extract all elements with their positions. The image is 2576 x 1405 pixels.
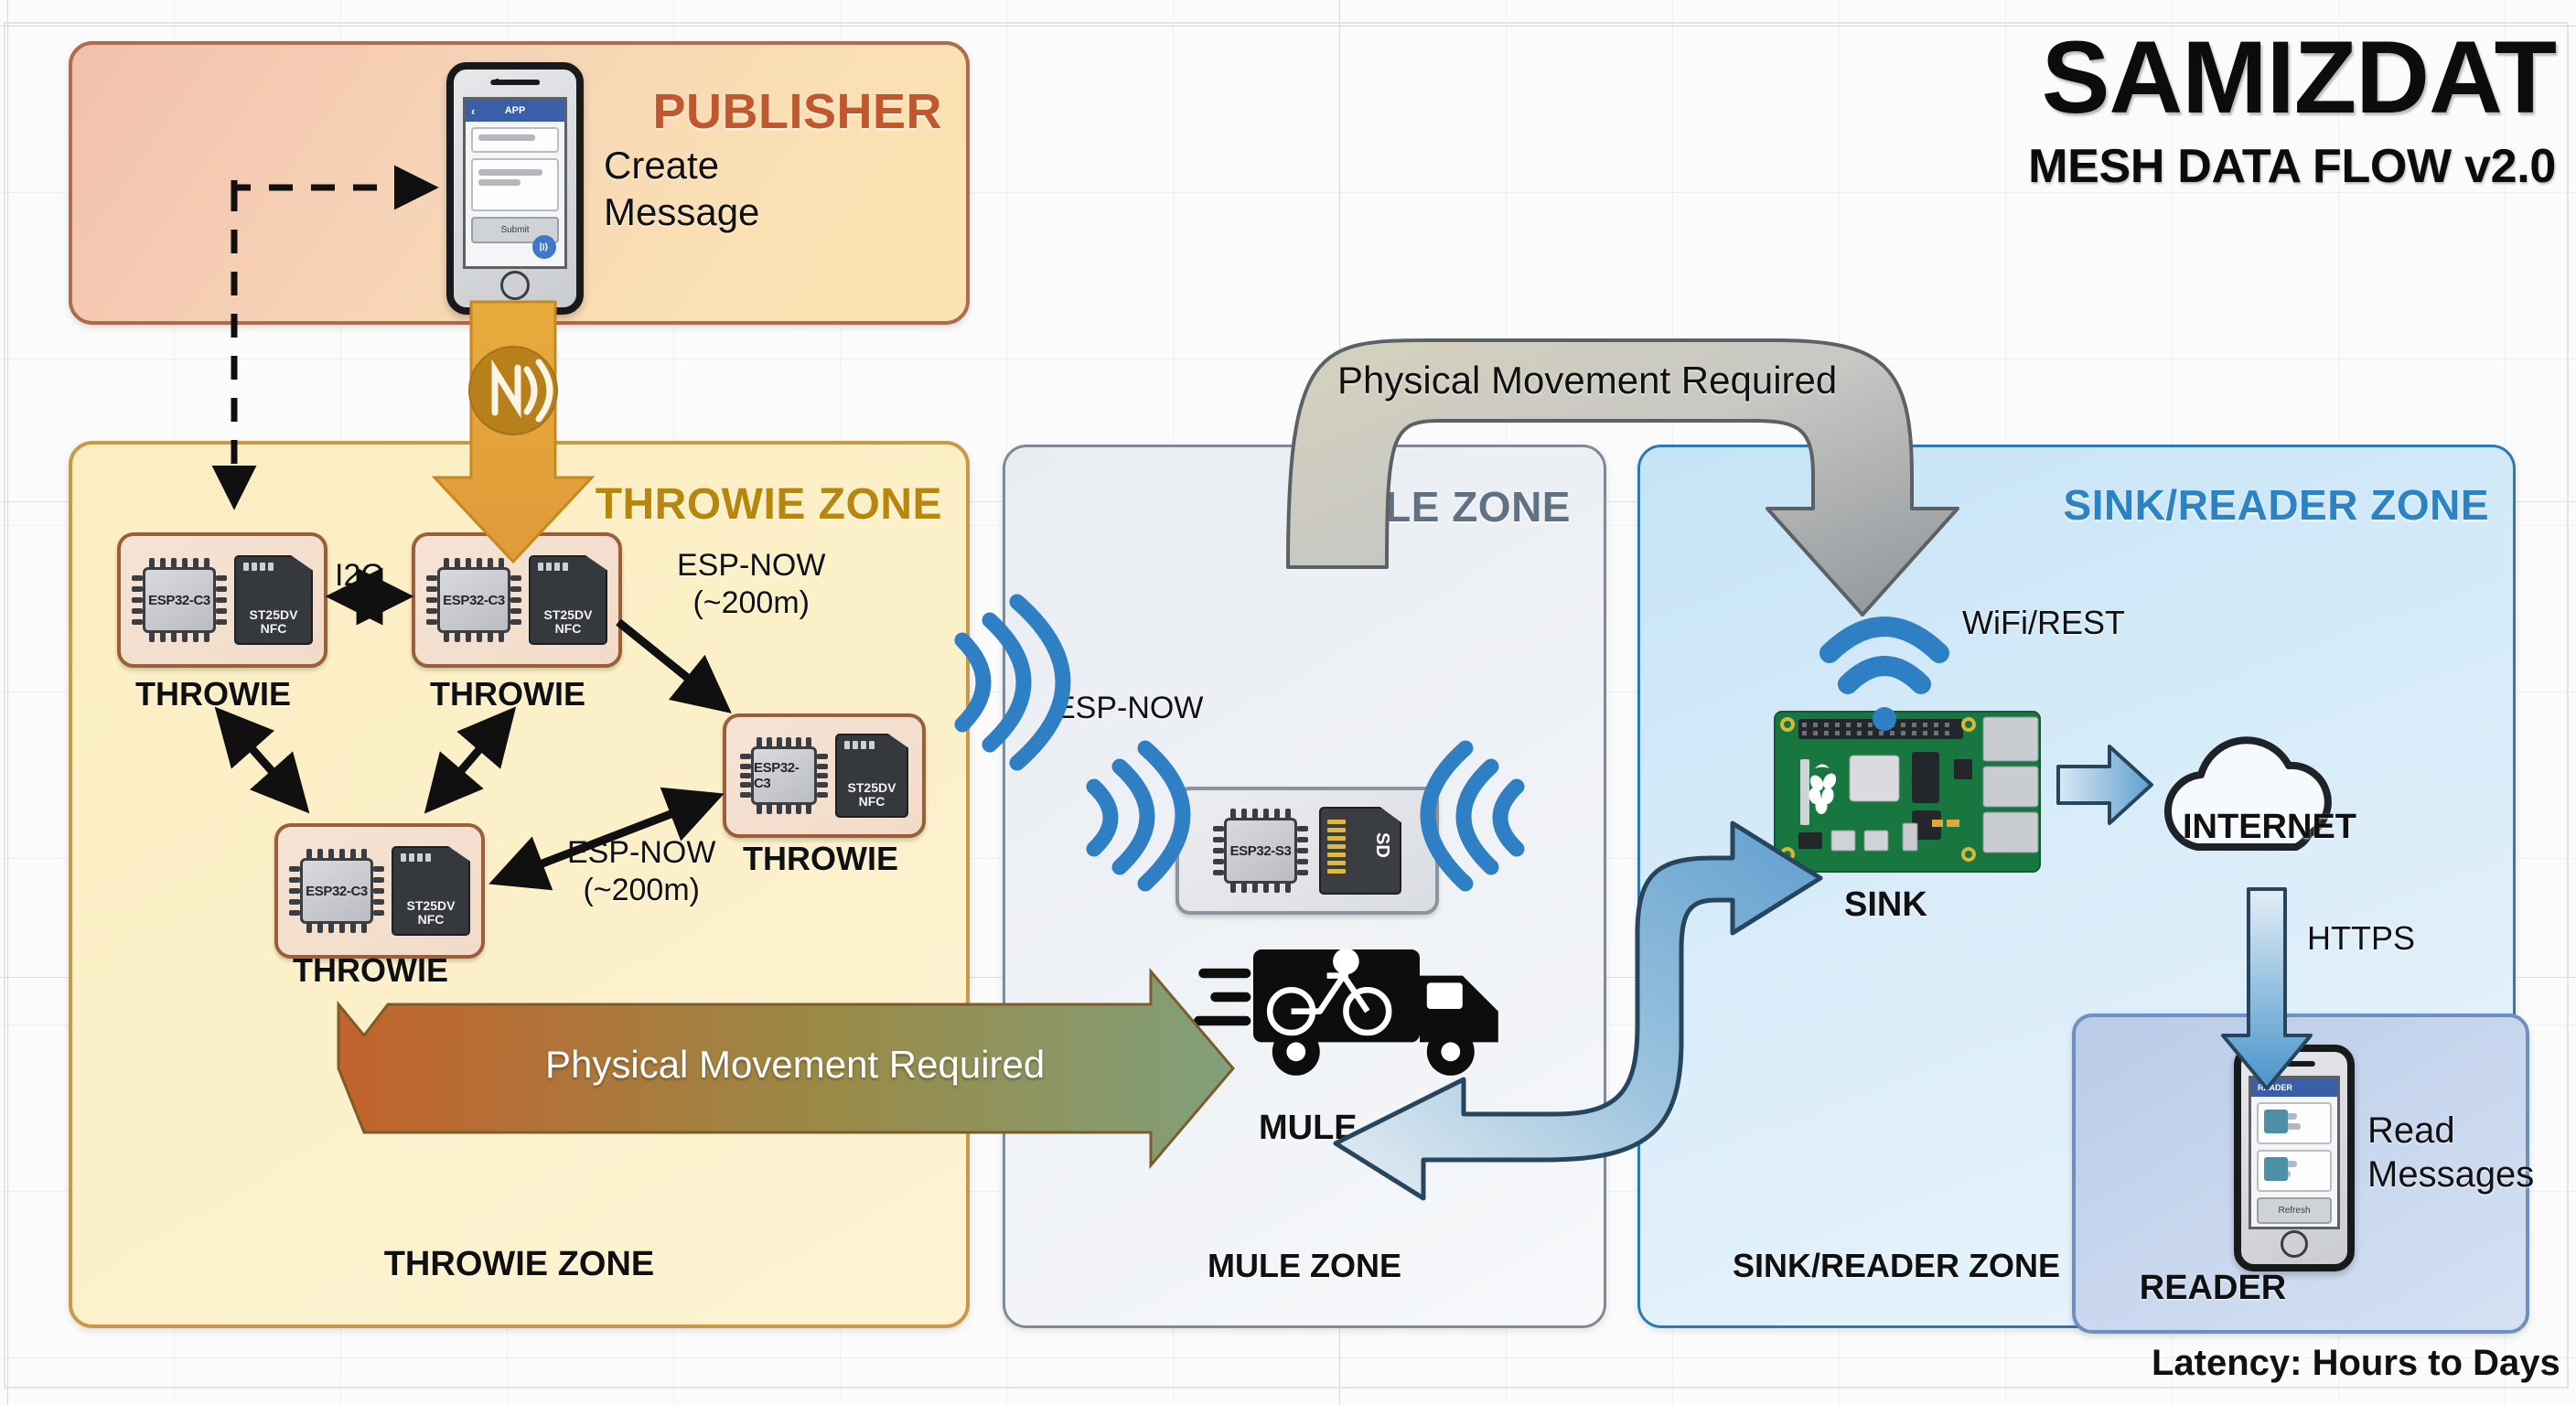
espnow-wifi-icon-mid: [1094, 748, 1183, 884]
mesh-link-3-4: [499, 798, 714, 880]
publisher-dashed-feedback-path: [234, 180, 430, 188]
sink-to-internet-arrow: [2058, 746, 2152, 823]
physical-movement-bottom-label: Physical Movement Required: [545, 1043, 1045, 1087]
mesh-link-2-4: [618, 622, 723, 706]
diagram-canvas: SAMIZDAT MESH DATA FLOW v2.0 PUBLISHER ‹…: [0, 0, 2576, 1405]
connector-layer: [0, 0, 2576, 1405]
wifi-rest-icon: [1830, 627, 1939, 731]
mule-to-sink-curve-arrow: [1336, 823, 1820, 1198]
espnow-wifi-icon-right: [1428, 748, 1517, 884]
https-arrow: [2223, 889, 2311, 1089]
espnow-wifi-icon-left: [962, 602, 1063, 763]
mesh-link-1-3: [222, 715, 302, 805]
mesh-link-2-3: [432, 715, 509, 805]
nfc-icon-circle: [469, 347, 557, 434]
physical-movement-top-label: Physical Movement Required: [1337, 359, 1837, 402]
